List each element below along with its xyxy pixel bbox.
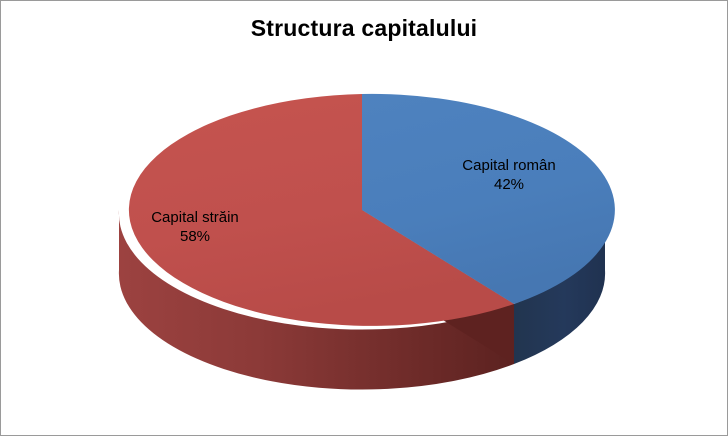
pie-chart-area: Capital român 42% Capital străin 58% [1, 1, 727, 435]
chart-frame: Structura capitalului [0, 0, 728, 436]
pie-chart-svg [1, 1, 727, 435]
